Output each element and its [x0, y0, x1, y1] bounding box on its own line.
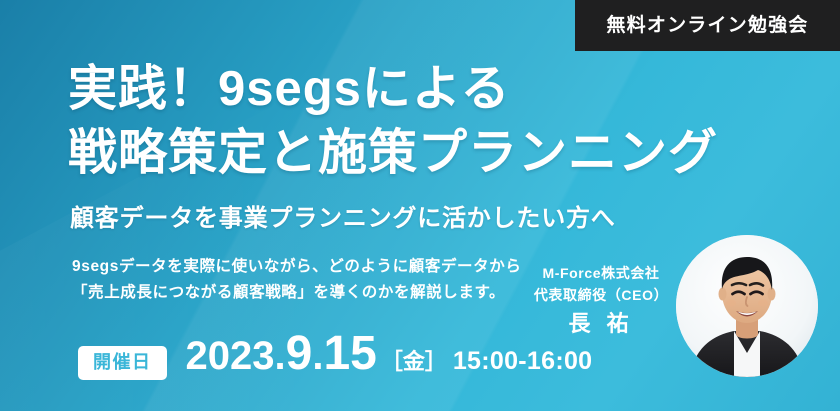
headline-line-2: 戦略策定と施策プランニング [68, 121, 808, 185]
body-line-1: 9segsデータを実際に使いながら、どのように顧客データから [72, 254, 521, 280]
date-day: 15 [323, 332, 376, 376]
date-year: 2023 [186, 334, 275, 378]
body-line-2: 「売上成長につながる顧客戦略」を導くのかを解説します。 [72, 280, 521, 306]
date-badge: 開催日 [78, 346, 167, 380]
date-time: 15:00-16:00 [453, 339, 593, 383]
headline-line-1: 実践！9segsによる [68, 57, 808, 121]
ribbon-label: 無料オンライン勉強会 [606, 16, 808, 35]
speaker-info: M-Force株式会社 代表取締役（CEO） 長 祐 [520, 262, 682, 340]
speaker-portrait-photo [676, 235, 818, 377]
date-badge-label: 開催日 [93, 352, 152, 372]
event-date-row: 開催日 2023.9.15［金］15:00-16:00 [78, 332, 592, 384]
free-seminar-ribbon: 無料オンライン勉強会 [575, 0, 840, 51]
date-separator-2: . [312, 334, 323, 378]
webinar-banner: 無料オンライン勉強会 実践！9segsによる 戦略策定と施策プランニング 顧客デ… [0, 0, 840, 411]
headline: 実践！9segsによる 戦略策定と施策プランニング [68, 57, 808, 185]
date-month: 9 [286, 332, 313, 376]
date-day-of-week: ［金］ [381, 340, 447, 384]
date-separator-1: . [274, 334, 285, 378]
date-value: 2023.9.15［金］15:00-16:00 [186, 332, 593, 384]
speaker-company: M-Force株式会社 [520, 262, 682, 284]
speaker-title: 代表取締役（CEO） [520, 284, 682, 306]
subtitle: 顧客データを事業プランニングに活かしたい方へ [70, 203, 616, 235]
body-copy: 9segsデータを実際に使いながら、どのように顧客データから 「売上成長につなが… [72, 254, 521, 306]
